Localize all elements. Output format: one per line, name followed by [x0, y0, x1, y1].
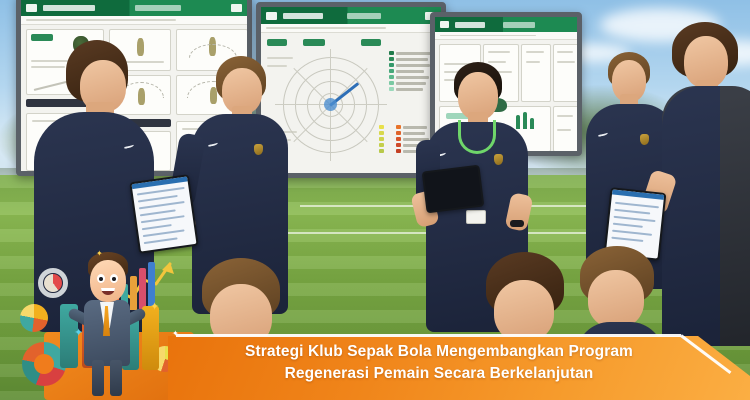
- club-crest-badge: [254, 144, 263, 155]
- radar-hub: [324, 98, 337, 111]
- table-text-line: [557, 61, 575, 63]
- pie-chart-icon: [20, 304, 48, 332]
- sparkle-icon: ✦: [96, 250, 103, 258]
- legend-label: [403, 132, 425, 135]
- sub-text-line: [26, 19, 176, 21]
- legend-swatch: [379, 143, 384, 147]
- banner-title-line-2: Regenerasi Pemain Secara Berkelanjutan: [168, 363, 710, 385]
- table-text-line: [557, 51, 573, 53]
- board-center-subbar: [261, 24, 441, 33]
- sub-text-line: [266, 27, 386, 29]
- mascot-teeth: [101, 288, 115, 291]
- tablet-data-row: [613, 223, 643, 228]
- wristwatch: [510, 220, 524, 227]
- tablet-data-row: [142, 224, 172, 230]
- board-left-header: [21, 0, 247, 16]
- legend-swatch: [389, 57, 394, 61]
- legend-swatch: [389, 63, 394, 67]
- board-logo-icon: [26, 4, 37, 12]
- tablet-data-row: [611, 237, 643, 242]
- pie-chart-icon: [44, 274, 62, 292]
- board-center-header: [261, 7, 441, 24]
- tablet-data-row: [139, 201, 185, 209]
- tablet-data-row: [615, 202, 659, 209]
- mascot-leg: [110, 360, 122, 396]
- tablet-data-row: [144, 237, 178, 244]
- tablet-data-row: [612, 230, 652, 236]
- legend-item: [389, 51, 432, 55]
- board-title-glyph: [43, 5, 95, 11]
- mascot-leg: [92, 360, 104, 396]
- tablet-dark-center[interactable]: [422, 165, 485, 214]
- legend-label: [396, 88, 423, 91]
- tablet-spreadsheet-left[interactable]: [129, 174, 198, 254]
- board-subtitle-glyph: [503, 22, 535, 28]
- tablet-screen[interactable]: [132, 176, 197, 251]
- board-right-subbar: [435, 32, 577, 40]
- tablet-data-row: [137, 187, 185, 196]
- board-title-glyph: [455, 22, 485, 28]
- mascot-pupil: [99, 277, 103, 281]
- table-block: [553, 106, 579, 152]
- legend-item: [389, 57, 432, 61]
- legend-label: [396, 82, 426, 85]
- tablet-data-row: [614, 216, 656, 222]
- legend-swatch: [389, 87, 394, 91]
- sparkle-icon: ✦: [150, 302, 159, 313]
- legend-swatch-2: [396, 131, 401, 135]
- board-subtitle-glyph: [135, 5, 181, 11]
- tablet-data-row: [614, 209, 650, 215]
- donut-hole: [34, 354, 54, 374]
- legend-label: [396, 58, 428, 61]
- tablet-screen[interactable]: [424, 167, 482, 211]
- club-crest-badge: [494, 154, 503, 165]
- sub-text-line: [440, 35, 536, 37]
- table-text-line: [557, 129, 571, 131]
- table-text-line: [526, 51, 544, 53]
- board-subtitle-glyph: [347, 13, 381, 19]
- banner-top-rule: [176, 334, 681, 337]
- table-text-line: [557, 115, 573, 117]
- table-block: [553, 44, 579, 102]
- chart-label-tag: [361, 39, 381, 46]
- legend-swatch: [379, 131, 384, 135]
- legend-swatch-2: [396, 125, 401, 129]
- tablet-data-row: [140, 209, 176, 216]
- chart-label-tag: [267, 39, 287, 46]
- club-crest-badge: [640, 134, 649, 145]
- tablet-data-row: [138, 195, 178, 203]
- board-right-header: [435, 17, 577, 32]
- legend-swatch: [389, 75, 394, 79]
- title-banner: Strategi Klub Sepak Bola Mengembangkan P…: [168, 330, 750, 400]
- legend-item: [379, 131, 429, 135]
- board-title-glyph: [283, 13, 323, 19]
- board-logo-icon: [266, 12, 277, 20]
- banner-title: Strategi Klub Sepak Bola Mengembangkan P…: [168, 341, 710, 385]
- legend-swatch: [389, 81, 394, 85]
- id-badge: [466, 210, 486, 224]
- tablet-data-row: [141, 215, 185, 223]
- legend-swatch: [379, 125, 384, 129]
- chart-label-tag: [303, 39, 325, 46]
- mascot-head: [90, 260, 126, 302]
- board-logo-icon: [440, 21, 449, 28]
- legend-swatch-2: [396, 149, 401, 153]
- legend-item: [379, 125, 429, 129]
- legend-swatch: [389, 51, 394, 55]
- sparkle-icon: ✦: [74, 328, 83, 339]
- board-action-icon: [231, 4, 242, 12]
- banner-title-line-1: Strategi Klub Sepak Bola Mengembangkan P…: [168, 341, 710, 363]
- bar-chart-bar: [130, 276, 137, 310]
- legend-swatch-2: [396, 143, 401, 147]
- legend-label: [396, 70, 424, 73]
- legend-swatch: [389, 69, 394, 73]
- torso-overlay-navy: [662, 86, 720, 346]
- board-left-subbar: [21, 16, 247, 25]
- legend-swatch: [379, 137, 384, 141]
- mascot-infographic-group: ✦ ✦ ✦ ✦: [0, 246, 190, 400]
- legend-label: [396, 52, 432, 55]
- head: [588, 270, 644, 328]
- legend-swatch: [379, 149, 384, 153]
- scene-root: ✦ ✦ ✦ ✦ Strategi Klub Sepak Bola Mengemb…: [0, 0, 750, 400]
- tablet-data-row: [143, 229, 185, 237]
- radar-chart: [283, 57, 379, 153]
- legend-swatch-2: [396, 137, 401, 141]
- bar-chart-bar: [139, 268, 146, 310]
- person-player-right-2: [662, 22, 750, 352]
- mascot-pupil: [112, 277, 116, 281]
- table-text-line: [488, 51, 510, 53]
